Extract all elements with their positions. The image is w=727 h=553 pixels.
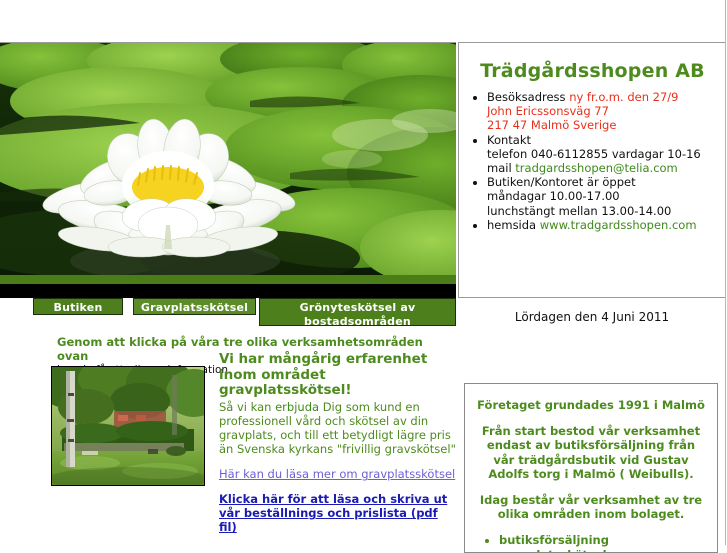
nav-tab-butiken[interactable]: Butiken	[33, 298, 123, 315]
nav-tab-gravplatsskotsel[interactable]: Gravplatsskötsel	[133, 298, 256, 315]
company-title: Trädgårdsshopen AB	[459, 60, 726, 82]
kontakt-label: Kontakt	[487, 133, 531, 147]
history-today: Idag består vår verksamhet av tre olika …	[475, 493, 707, 522]
address-highlight: ny fr.o.m. den 27/9	[569, 90, 678, 104]
page-right-rule	[725, 0, 726, 545]
contact-list: Besöksadress ny fr.o.m. den 27/9 John Er…	[459, 90, 726, 232]
history-founded: Företaget grundades 1991 i Malmö	[475, 398, 707, 413]
paragraph-inline-link[interactable]: erbjuda	[275, 400, 319, 414]
hours-line-2: lunchstängt mellan 13.00-14.00	[487, 204, 671, 218]
address-line-1: John Ericssonsväg 77	[487, 104, 609, 118]
contact-item-website: hemsida www.tradgardsshopen.com	[487, 218, 718, 232]
address-label: Besöksadress	[487, 90, 566, 104]
website-label: hemsida	[487, 218, 536, 232]
paragraph-pre: Så vi kan	[219, 400, 275, 414]
link-pdf-pricelist[interactable]: Klicka här för att läsa och skriva ut vå…	[219, 492, 457, 534]
nav-tab-gronyteskotsel[interactable]: Grönyteskötsel av bostadsområden	[259, 298, 456, 326]
article-column: Vi har mångårig erfarenhet inom området …	[219, 352, 457, 534]
cemetery-garden-photo	[51, 366, 205, 486]
garden-photo-icon	[52, 367, 204, 485]
contact-item-kontakt: Kontakt telefon 040-6112855 vardagar 10-…	[487, 133, 718, 176]
contact-item-hours: Butiken/Kontoret är öppet måndagar 10.00…	[487, 175, 718, 218]
article-paragraph: Så vi kan erbjuda Dig som kund en profes…	[219, 400, 457, 457]
article-heading: Vi har mångårig erfarenhet inom området …	[219, 352, 457, 399]
website-link[interactable]: www.tradgardsshopen.com	[540, 218, 697, 232]
main-navigation: Butiken Gravplatsskötsel Grönyteskötsel …	[0, 298, 456, 326]
link-read-more[interactable]: Här kan du läsa mer om gravplatsskötsel	[219, 467, 457, 481]
business-area-item: butiksförsäljning	[499, 533, 707, 548]
current-date: Lördagen den 4 Juni 2011	[458, 305, 726, 329]
contact-panel: Trädgårdsshopen AB Besöksadress ny fr.o.…	[458, 42, 726, 298]
hours-label: Butiken/Kontoret är öppet	[487, 175, 636, 189]
water-lily-icon	[0, 43, 456, 285]
contact-item-address: Besöksadress ny fr.o.m. den 27/9 John Er…	[487, 90, 718, 133]
top-white-strip	[0, 0, 727, 42]
mail-label: mail	[487, 161, 512, 175]
page-root: Butiken Gravplatsskötsel Grönyteskötsel …	[0, 0, 727, 545]
business-area-item: gravplatsskötsel	[499, 548, 707, 553]
phone-line: telefon 040-6112855 vardagar 10-16	[487, 147, 701, 161]
company-history-box: Företaget grundades 1991 i Malmö Från st…	[464, 383, 718, 553]
address-line-2: 217 47 Malmö Sverige	[487, 118, 616, 132]
mail-link[interactable]: tradgardsshopen@telia.com	[515, 161, 677, 175]
hero-banner	[0, 42, 456, 285]
history-origin: Från start bestod vår verksamhet endast …	[475, 424, 707, 482]
business-areas-list: butiksförsäljning gravplatsskötsel gröny…	[475, 533, 707, 553]
hours-line-1: måndagar 10.00-17.00	[487, 189, 620, 203]
